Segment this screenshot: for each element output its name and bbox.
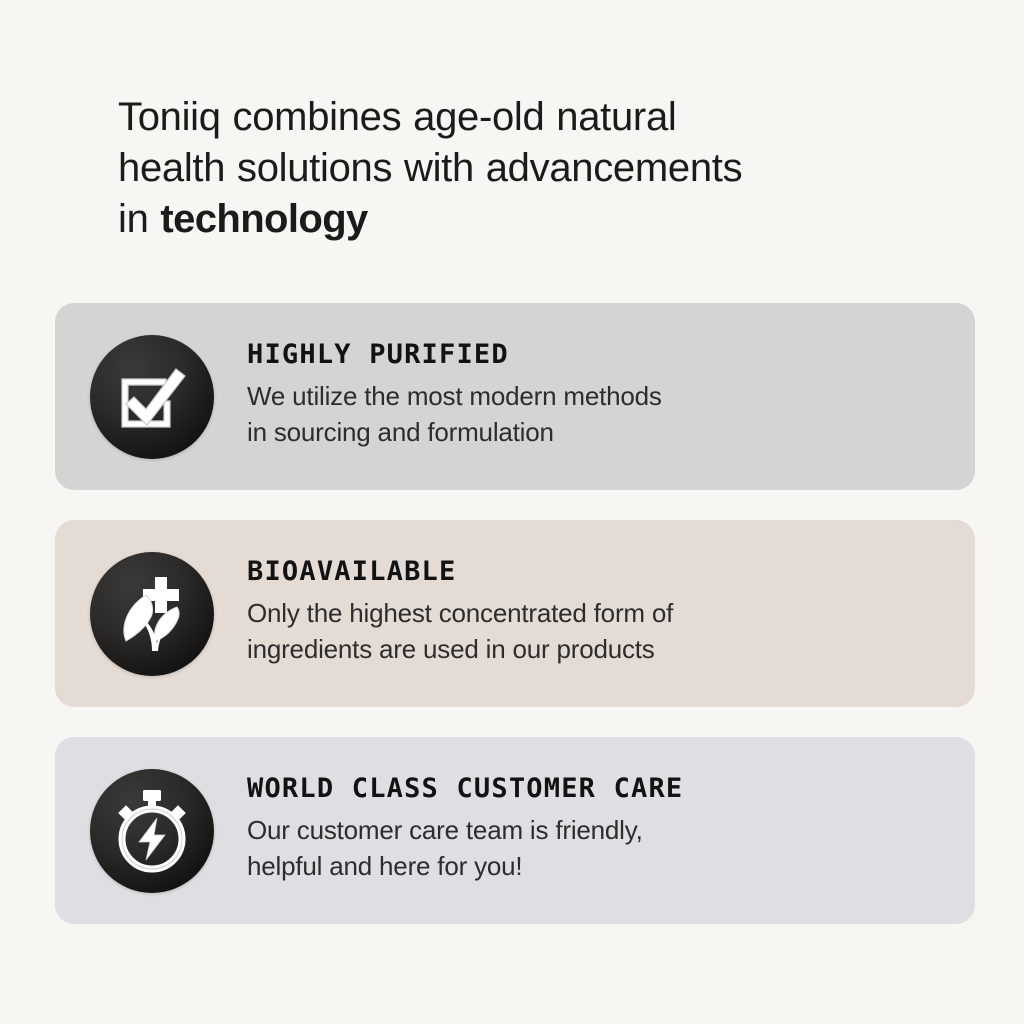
headline-line-1: Toniiq combines age-old natural xyxy=(118,92,878,143)
feature-card-text: HIGHLY PURIFIED We utilize the most mode… xyxy=(247,339,951,450)
feature-card-text: WORLD CLASS CUSTOMER CARE Our customer c… xyxy=(247,773,951,884)
page-headline: Toniiq combines age-old natural health s… xyxy=(118,92,878,245)
feature-card-body-line-2: ingredients are used in our products xyxy=(247,631,951,667)
feature-card-bioavailable[interactable]: BIOAVAILABLE Only the highest concentrat… xyxy=(55,520,975,707)
feature-card-body-line-1: Our customer care team is friendly, xyxy=(247,812,951,848)
infographic-page: Toniiq combines age-old natural health s… xyxy=(0,0,1024,1024)
stopwatch-bolt-icon xyxy=(90,769,214,893)
feature-card-body-line-2: helpful and here for you! xyxy=(247,848,951,884)
headline-emphasis-technology: technology xyxy=(160,197,367,241)
feature-card-body-line-1: Only the highest concentrated form of xyxy=(247,595,951,631)
feature-card-title: WORLD CLASS CUSTOMER CARE xyxy=(247,773,951,805)
feature-card-body-line-2: in sourcing and formulation xyxy=(247,414,951,450)
feature-card-body-line-1: We utilize the most modern methods xyxy=(247,378,951,414)
feature-card-world-class-customer-care[interactable]: WORLD CLASS CUSTOMER CARE Our customer c… xyxy=(55,737,975,924)
feature-card-body: Our customer care team is friendly, help… xyxy=(247,812,951,884)
checkbox-check-icon xyxy=(90,335,214,459)
leaf-plus-icon xyxy=(90,552,214,676)
headline-line-3: in technology xyxy=(118,194,878,245)
feature-card-list: HIGHLY PURIFIED We utilize the most mode… xyxy=(55,303,975,924)
feature-card-body: We utilize the most modern methods in so… xyxy=(247,378,951,450)
feature-card-highly-purified[interactable]: HIGHLY PURIFIED We utilize the most mode… xyxy=(55,303,975,490)
headline-line-3-prefix: in xyxy=(118,197,160,241)
feature-card-text: BIOAVAILABLE Only the highest concentrat… xyxy=(247,556,951,667)
feature-card-body: Only the highest concentrated form of in… xyxy=(247,595,951,667)
feature-card-title: BIOAVAILABLE xyxy=(247,556,951,588)
feature-card-title: HIGHLY PURIFIED xyxy=(247,339,951,371)
headline-line-2: health solutions with advancements xyxy=(118,143,878,194)
